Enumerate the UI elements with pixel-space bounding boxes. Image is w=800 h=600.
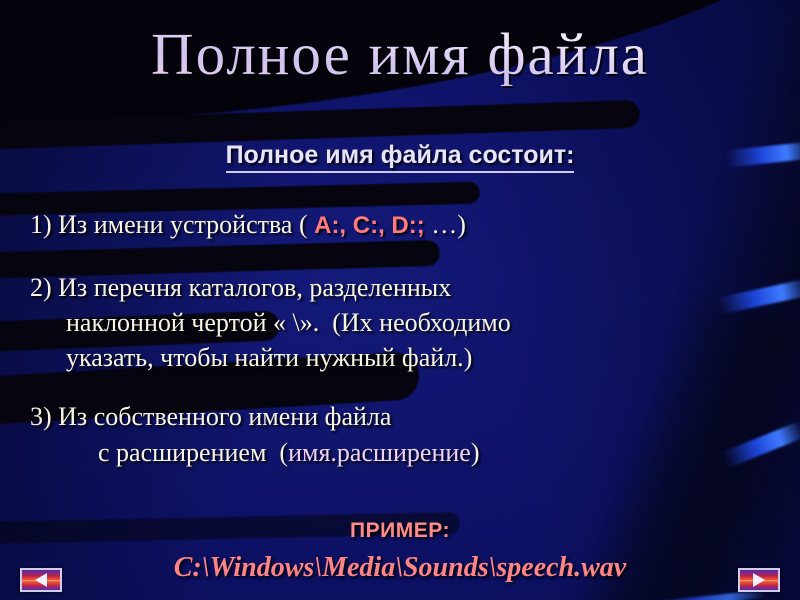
list-item-1-text-post: …) — [425, 210, 466, 239]
list-item-3-text-pre: с расширением ( — [98, 438, 288, 467]
slide-subtitle: Полное имя файла состоит: — [0, 141, 800, 170]
filename-extension-highlight: имя.расширение — [288, 438, 471, 467]
subtitle-text: Полное имя файла состоит: — [226, 141, 575, 173]
presentation-slide: Полное имя файла Полное имя файла состои… — [0, 0, 800, 600]
button-stripe — [22, 580, 60, 581]
list-item-1-line-1: 1) Из имени устройства ( A:, C:, D:; …) — [30, 210, 770, 240]
previous-slide-button[interactable] — [20, 568, 62, 592]
list-item-3-text-post: ) — [471, 438, 480, 467]
content-list: 1) Из имени устройства ( A:, C:, D:; …) … — [30, 210, 770, 489]
list-item-1-text-pre: 1) Из имени устройства ( — [30, 210, 314, 239]
device-letters-highlight: A:, C:, D:; — [314, 212, 425, 239]
list-item-2-line-3: указать, чтобы найти нужный файл.) — [30, 340, 770, 375]
example-path: C:\Windows\Media\Sounds\speech.wav — [0, 552, 800, 584]
list-item-2-line-2: наклонной чертой « \». (Их необходимо — [30, 305, 770, 340]
button-stripe — [740, 580, 778, 581]
list-item-3-line-2: с расширением (имя.расширение) — [30, 435, 770, 471]
next-slide-button[interactable] — [738, 568, 780, 592]
example-label: ПРИМЕР: — [0, 519, 800, 543]
list-item-2-line-1: 2) Из перечня каталогов, разделенных — [30, 270, 770, 305]
list-item-3: 3) Из собственного имени файла с расшире… — [30, 399, 770, 471]
list-item-2: 2) Из перечня каталогов, разделенных нак… — [30, 270, 770, 375]
list-item-1: 1) Из имени устройства ( A:, C:, D:; …) — [30, 210, 770, 240]
slide-title: Полное имя файла — [0, 24, 800, 86]
list-item-3-line-1: 3) Из собственного имени файла — [30, 399, 770, 435]
